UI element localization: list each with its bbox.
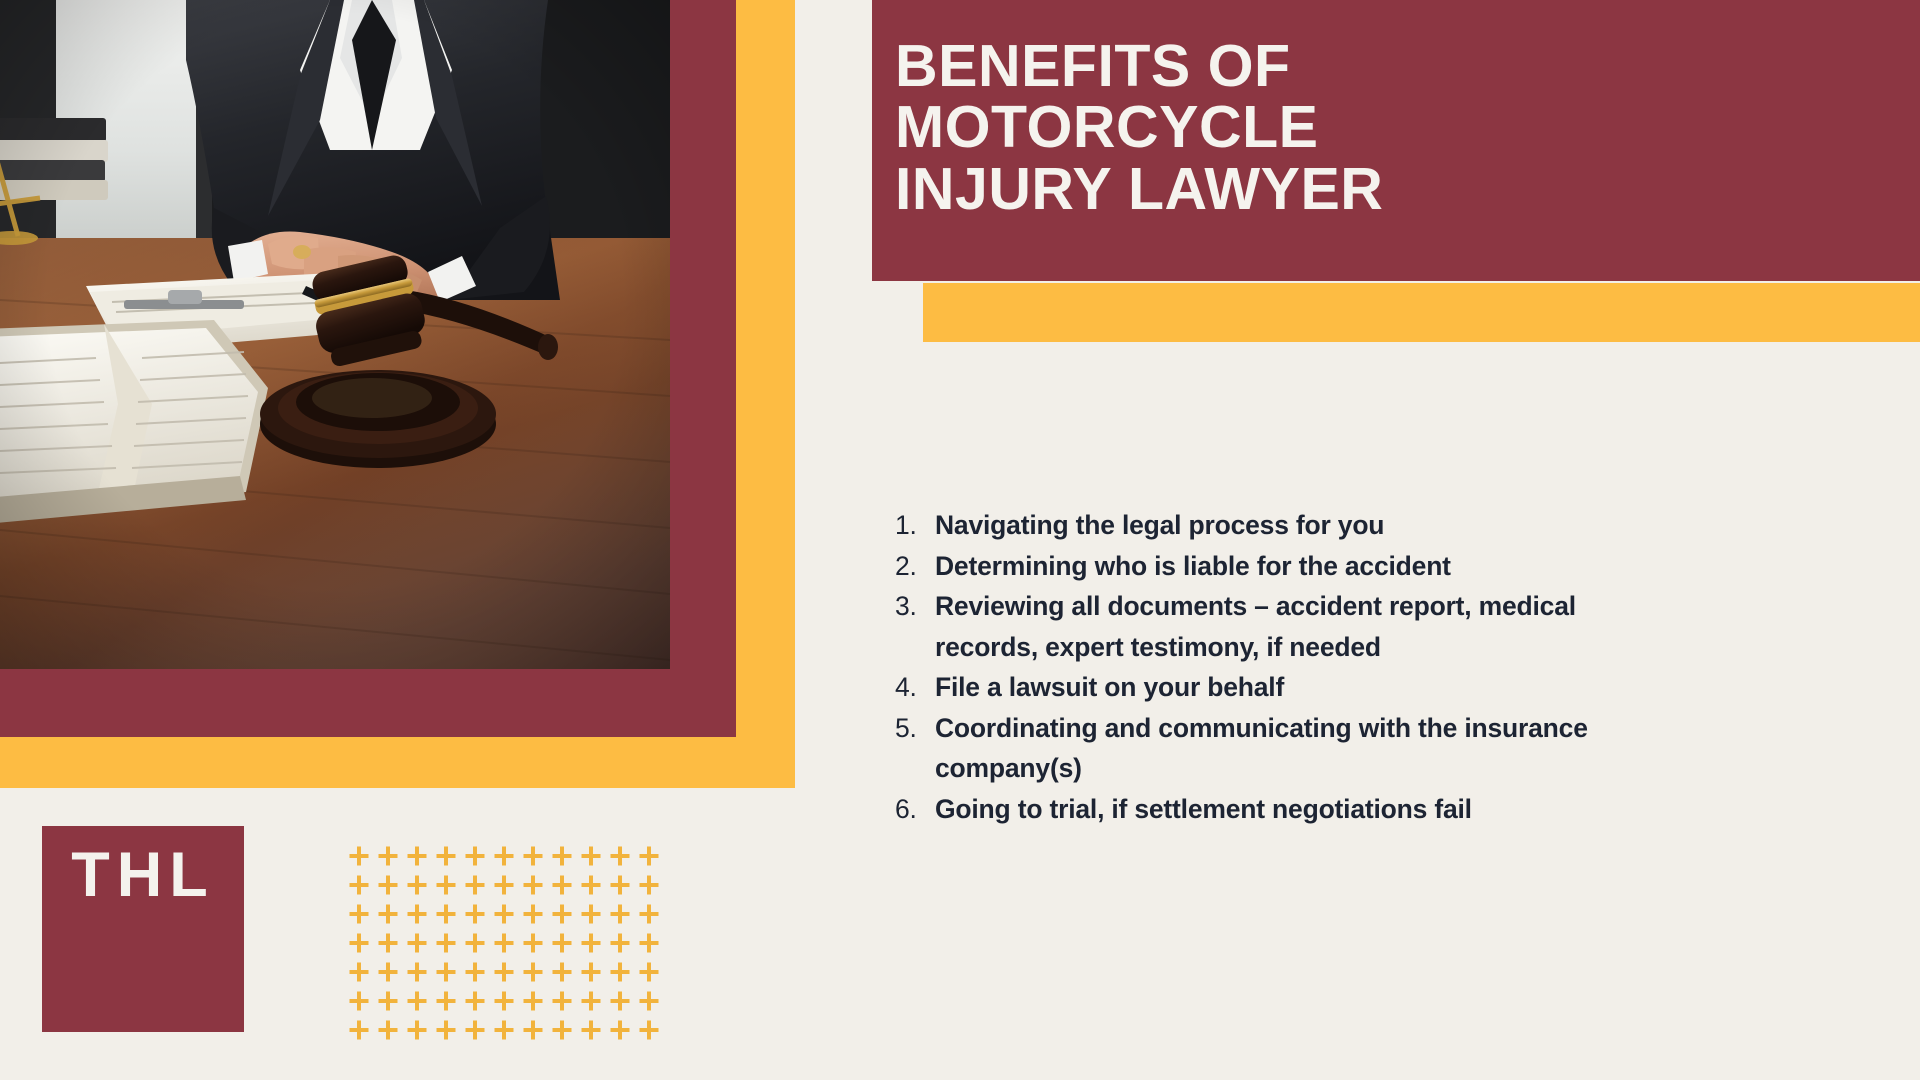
accent-band-yellow-horizontal xyxy=(0,737,795,788)
title-block: BENEFITS OF MOTORCYCLE INJURY LAWYER xyxy=(872,0,1920,281)
accent-band-maroon-horizontal xyxy=(0,669,736,737)
thl-logo[interactable]: THL xyxy=(42,826,244,1032)
logo-text: THL xyxy=(71,844,214,907)
list-item: Reviewing all documents – accident repor… xyxy=(893,586,1593,667)
accent-band-yellow-vertical xyxy=(736,0,795,788)
page-title: BENEFITS OF MOTORCYCLE INJURY LAWYER xyxy=(895,36,1920,220)
list-item: Coordinating and communicating with the … xyxy=(893,708,1593,789)
list-item: File a lawsuit on your behalf xyxy=(893,667,1593,708)
list-item: Navigating the legal process for you xyxy=(893,505,1593,546)
slide-canvas: THL BENEFITS OF MOTORCYCLE INJURY L xyxy=(0,0,1920,1080)
accent-band-maroon-vertical xyxy=(670,0,736,737)
plus-pattern-decoration xyxy=(349,846,661,1052)
title-underbar-yellow xyxy=(923,283,1920,342)
list-item: Going to trial, if settlement negotiatio… xyxy=(893,789,1593,830)
benefits-list: Navigating the legal process for you Det… xyxy=(893,505,1593,829)
lawyer-gavel-photo xyxy=(0,0,670,669)
benefits-list-container: Navigating the legal process for you Det… xyxy=(893,505,1593,829)
list-item: Determining who is liable for the accide… xyxy=(893,546,1593,587)
